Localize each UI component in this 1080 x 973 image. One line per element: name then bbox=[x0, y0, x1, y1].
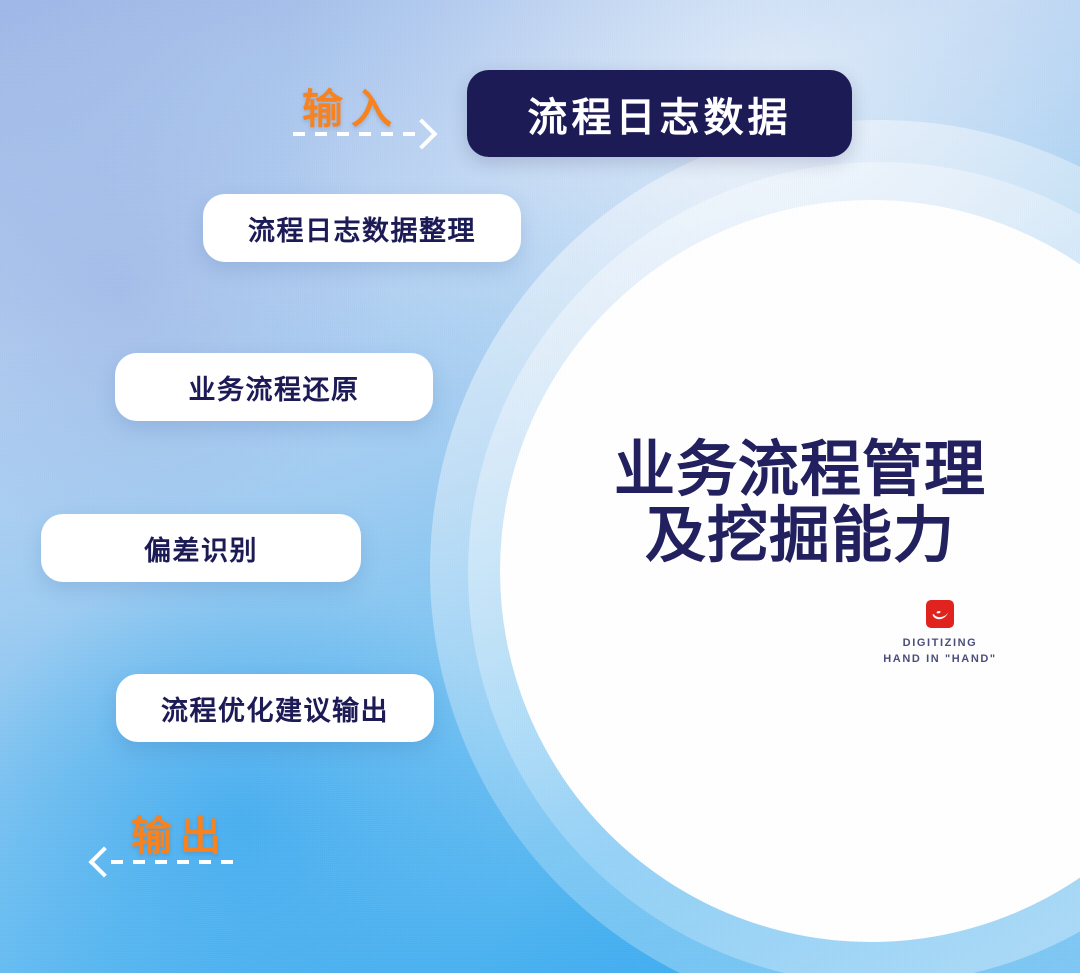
brand-tagline: DIGITIZING HAND IN "HAND" bbox=[883, 636, 997, 668]
step-card-label: 流程优化建议输出 bbox=[161, 689, 389, 728]
arrow-head bbox=[406, 118, 437, 149]
header-badge-label: 流程日志数据 bbox=[528, 85, 792, 143]
step-card-label: 流程日志数据整理 bbox=[248, 209, 476, 248]
arrow-head bbox=[88, 846, 119, 877]
brand-tagline-line-1: DIGITIZING bbox=[883, 636, 997, 652]
arrow-right-dashed-icon bbox=[293, 122, 433, 146]
step-card-1[interactable]: 流程日志数据整理 bbox=[203, 194, 521, 262]
main-title-line-2: 及挖掘能力 bbox=[560, 503, 1040, 569]
main-title: 业务流程管理 及挖掘能力 bbox=[560, 437, 1040, 569]
step-card-4[interactable]: 流程优化建议输出 bbox=[116, 674, 434, 742]
arrow-left-dashed-icon bbox=[93, 850, 243, 874]
step-card-3[interactable]: 偏差识别 bbox=[41, 514, 361, 582]
brand-logo: DIGITIZING HAND IN "HAND" bbox=[830, 600, 1050, 668]
swoosh-logo-icon bbox=[926, 600, 954, 628]
main-title-line-1: 业务流程管理 bbox=[560, 437, 1040, 503]
infographic-poster: 流程日志数据 输入 流程日志数据整理 业务流程还原 偏差识别 流程优化建议输出 … bbox=[0, 0, 1080, 973]
step-card-label: 业务流程还原 bbox=[189, 368, 360, 407]
header-badge: 流程日志数据 bbox=[467, 70, 852, 157]
arrow-dash-line bbox=[111, 860, 243, 864]
brand-tagline-line-2: HAND IN "HAND" bbox=[883, 652, 997, 668]
step-card-label: 偏差识别 bbox=[144, 529, 258, 568]
arrow-dash-line bbox=[293, 132, 415, 136]
step-card-2[interactable]: 业务流程还原 bbox=[115, 353, 433, 421]
